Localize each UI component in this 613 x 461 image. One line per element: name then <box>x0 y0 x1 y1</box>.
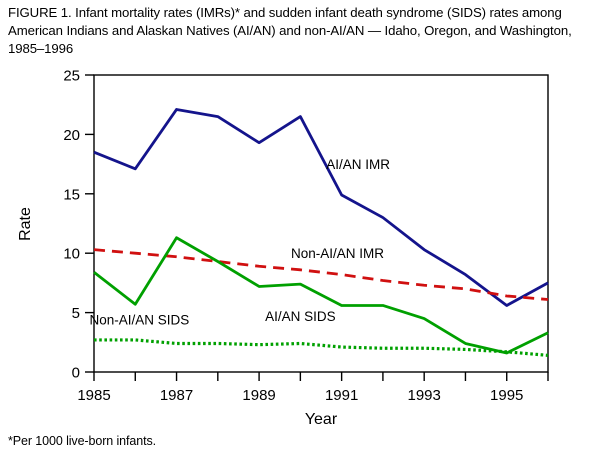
y-axis-ticks: 0510152025 <box>63 68 94 382</box>
y-axis-title: Rate <box>17 207 34 241</box>
series-label: AI/AN IMR <box>326 157 390 172</box>
y-tick-label: 0 <box>72 365 80 382</box>
series-label: Non-AI/AN IMR <box>291 246 384 261</box>
series-annotations: AI/AN IMRNon-AI/AN IMRAI/AN SIDSNon-AI/A… <box>90 157 391 328</box>
x-tick-label: 1991 <box>325 387 358 404</box>
series-label: AI/AN SIDS <box>265 309 336 324</box>
x-axis-ticks: 198519871989199119931995 <box>77 372 548 404</box>
line-chart: 0510152025 198519871989199119931995 AI/A… <box>0 0 613 461</box>
y-tick-label: 5 <box>72 305 80 322</box>
figure-footnote: *Per 1000 live-born infants. <box>8 434 156 448</box>
series-label: Non-AI/AN SIDS <box>90 312 190 327</box>
y-tick-label: 10 <box>63 246 80 263</box>
x-tick-label: 1985 <box>77 387 110 404</box>
x-tick-label: 1995 <box>490 387 523 404</box>
series-line <box>94 109 548 305</box>
x-tick-label: 1989 <box>242 387 275 404</box>
chart-container: 0510152025 198519871989199119931995 AI/A… <box>0 0 613 461</box>
y-tick-label: 15 <box>63 186 80 203</box>
x-tick-label: 1987 <box>160 387 193 404</box>
x-tick-label: 1993 <box>407 387 440 404</box>
x-axis-title: Year <box>305 411 338 428</box>
y-tick-label: 25 <box>63 68 80 85</box>
y-tick-label: 20 <box>63 127 80 144</box>
